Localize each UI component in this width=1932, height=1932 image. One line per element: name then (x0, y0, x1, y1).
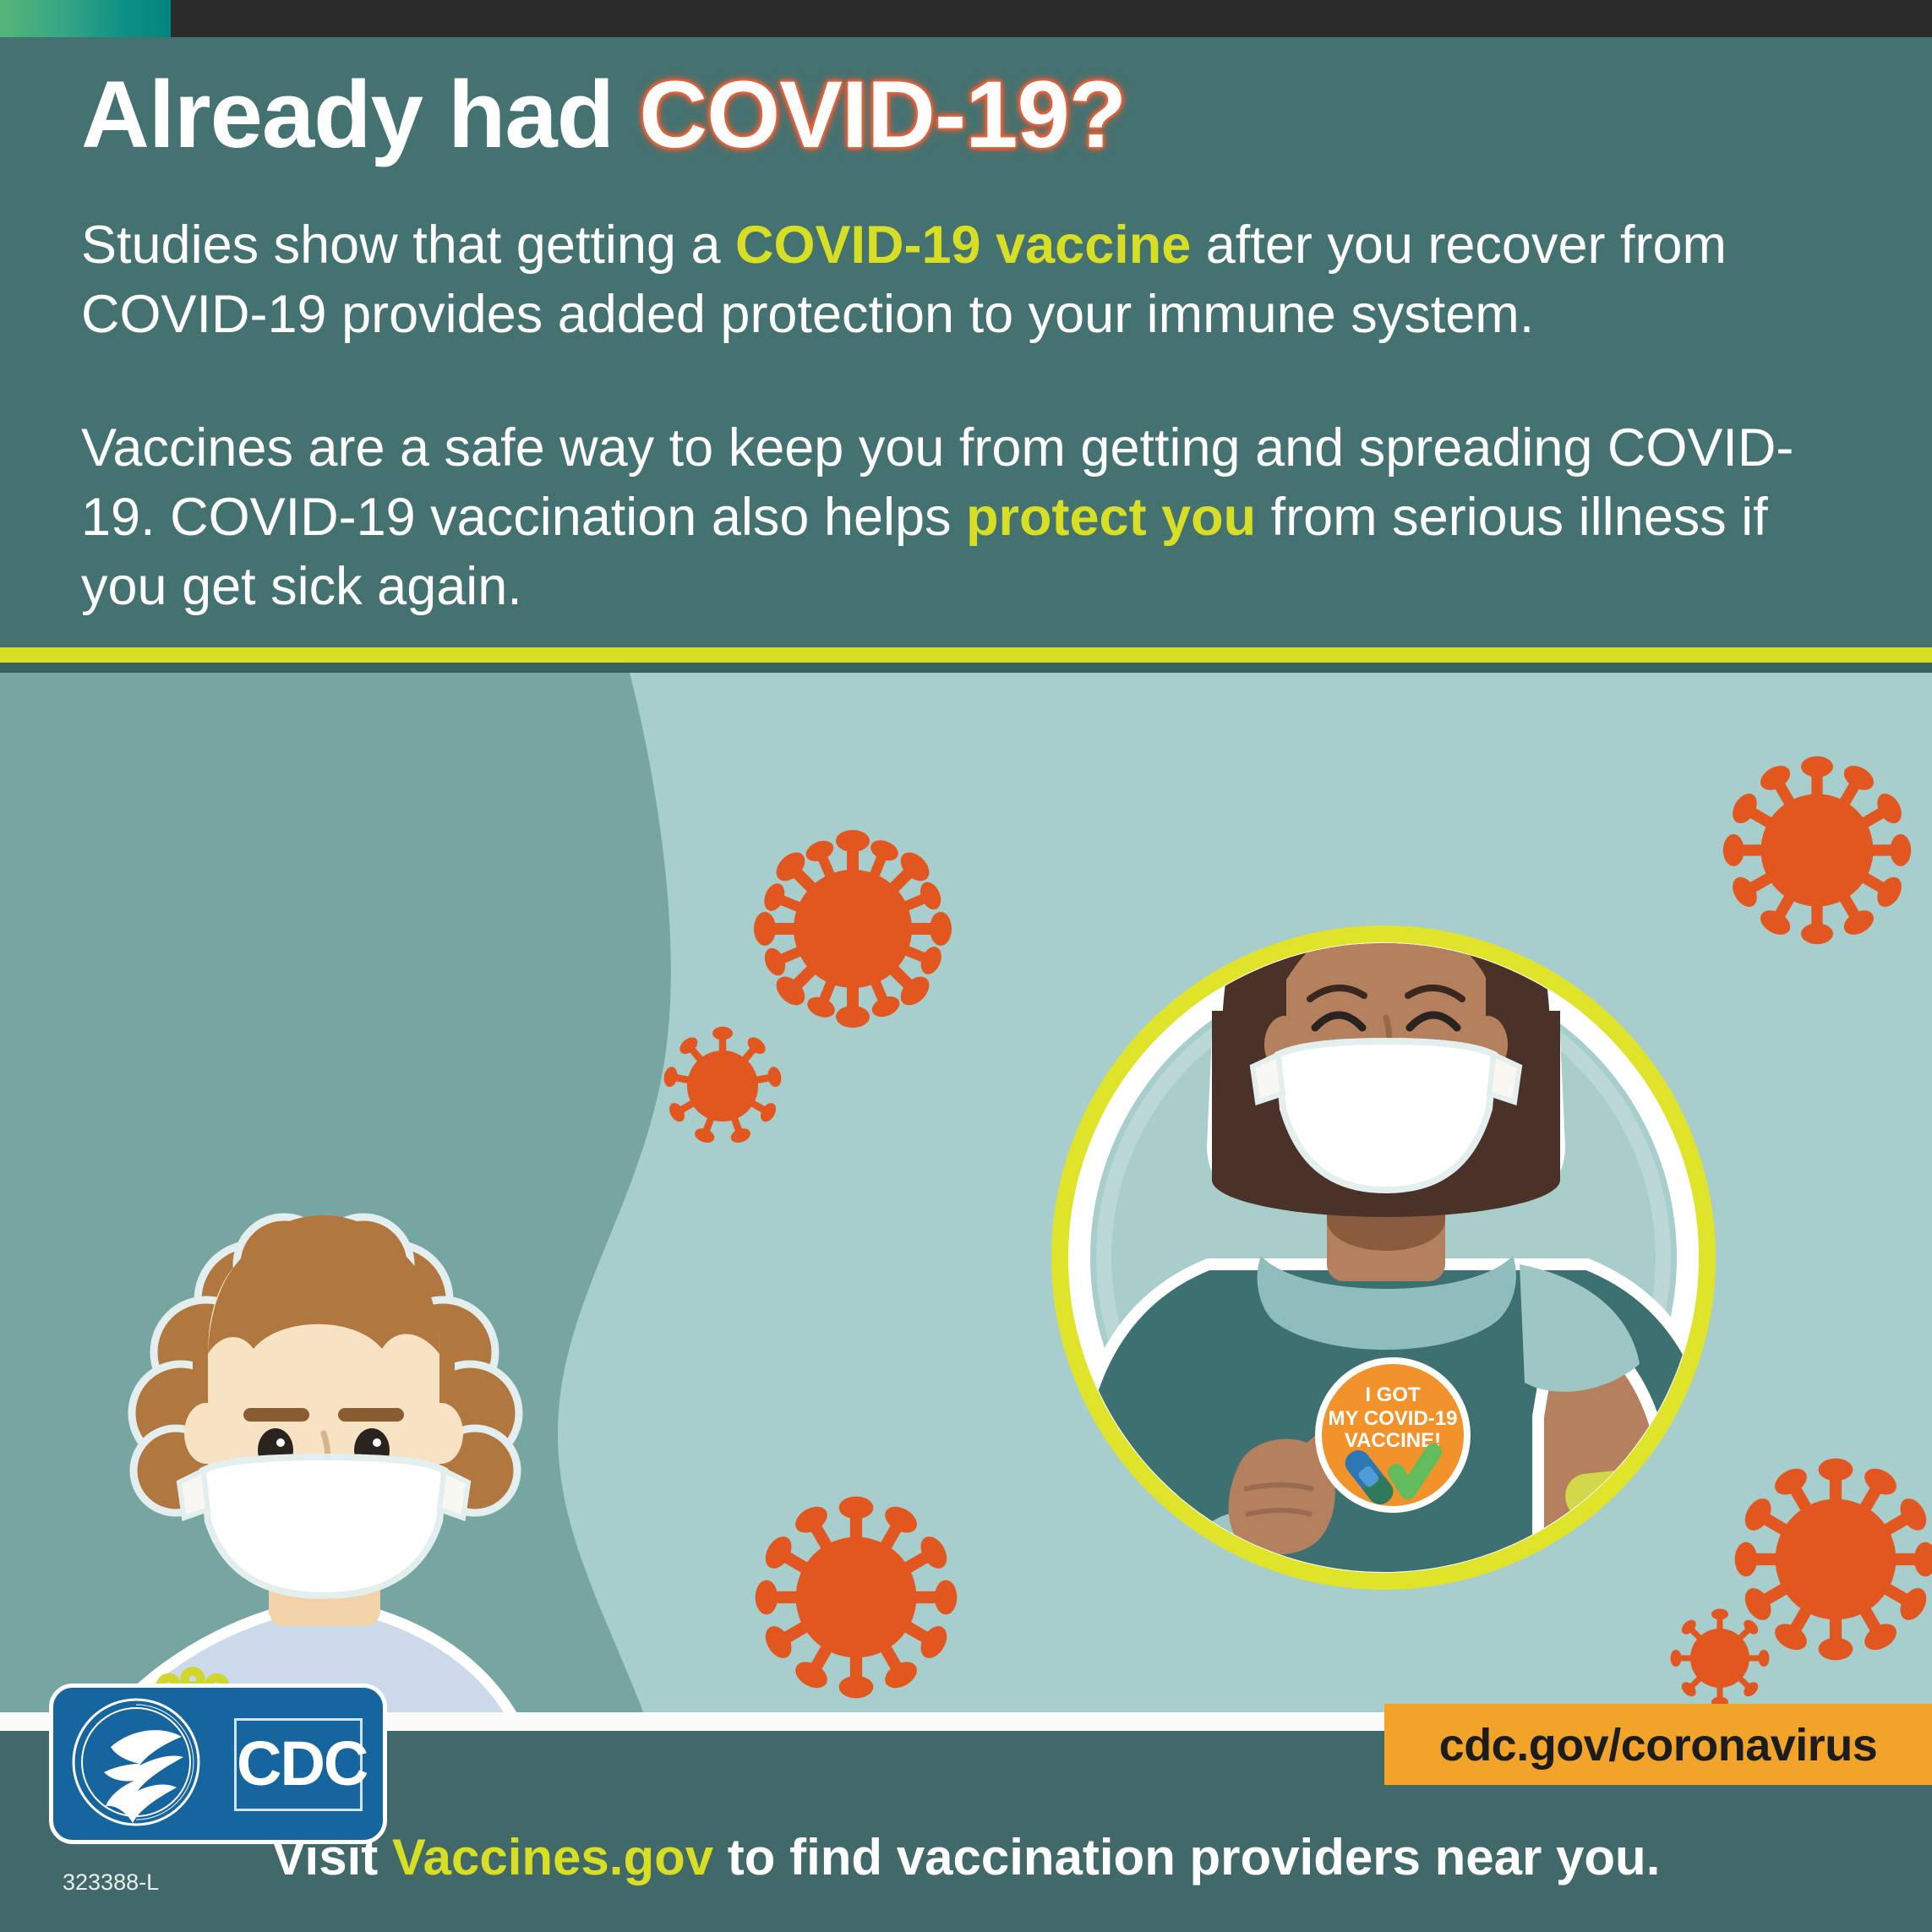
header-yellow-divider (0, 647, 1932, 663)
cdc-url-label: cdc.gov/coronavirus (1384, 1719, 1932, 1771)
virus-icon (1671, 1609, 1770, 1708)
cdc-logo: CDC (49, 1684, 387, 1844)
virus-icon (754, 830, 952, 1028)
page-title-plain: Already had (81, 62, 639, 167)
header-paragraph-1: Studies show that getting a COVID-19 vac… (81, 211, 1831, 350)
left-person-ear-left (184, 1403, 228, 1464)
footer-suffix: to find vaccination providers near you. (713, 1829, 1660, 1886)
sticker-line-2: MY COVID-19 (1329, 1407, 1458, 1430)
paragraph-1-bold: COVID-19 vaccine (735, 216, 1191, 275)
left-person-eyebrow-right (338, 1408, 404, 1422)
catalog-number: 323388-L (63, 1869, 159, 1896)
cdc-wordmark: CDC (237, 1733, 360, 1795)
cdc-url-bar[interactable]: cdc.gov/coronavirus (1384, 1704, 1932, 1785)
footer-link[interactable]: Vaccines.gov (392, 1829, 713, 1886)
page-title-highlight: COVID-19? (639, 62, 1126, 167)
vaccine-sticker: I GOT MY COVID-19 VACCINE! (1315, 1357, 1471, 1513)
header-paragraph-2: Vaccines are a safe way to keep you from… (81, 414, 1831, 622)
left-person-mask-strap-right (439, 1471, 468, 1518)
sticker-line-1: I GOT (1365, 1384, 1421, 1406)
top-strip-gradient-accent (0, 0, 171, 37)
right-person-mask-strap-left (1253, 1055, 1283, 1102)
paragraph-2-bold: protect you (966, 488, 1256, 547)
top-strip (0, 0, 1932, 37)
right-person-mask-strap-right (1489, 1055, 1520, 1102)
paragraph-1-part-1: Studies show that getting a (81, 216, 735, 275)
left-person-mask-strap-left (179, 1471, 208, 1518)
header-divider-shadow (0, 663, 1932, 673)
page-title: Already had COVID-19? (81, 66, 1822, 164)
left-person-ear-right (419, 1403, 463, 1464)
left-person-eyebrow-left (243, 1408, 309, 1422)
hhs-seal-icon (58, 1688, 227, 1842)
cdc-covid-infographic: Already had COVID-19? Studies show that … (0, 0, 1932, 1932)
cdc-wordmark-box: CDC (234, 1718, 363, 1811)
